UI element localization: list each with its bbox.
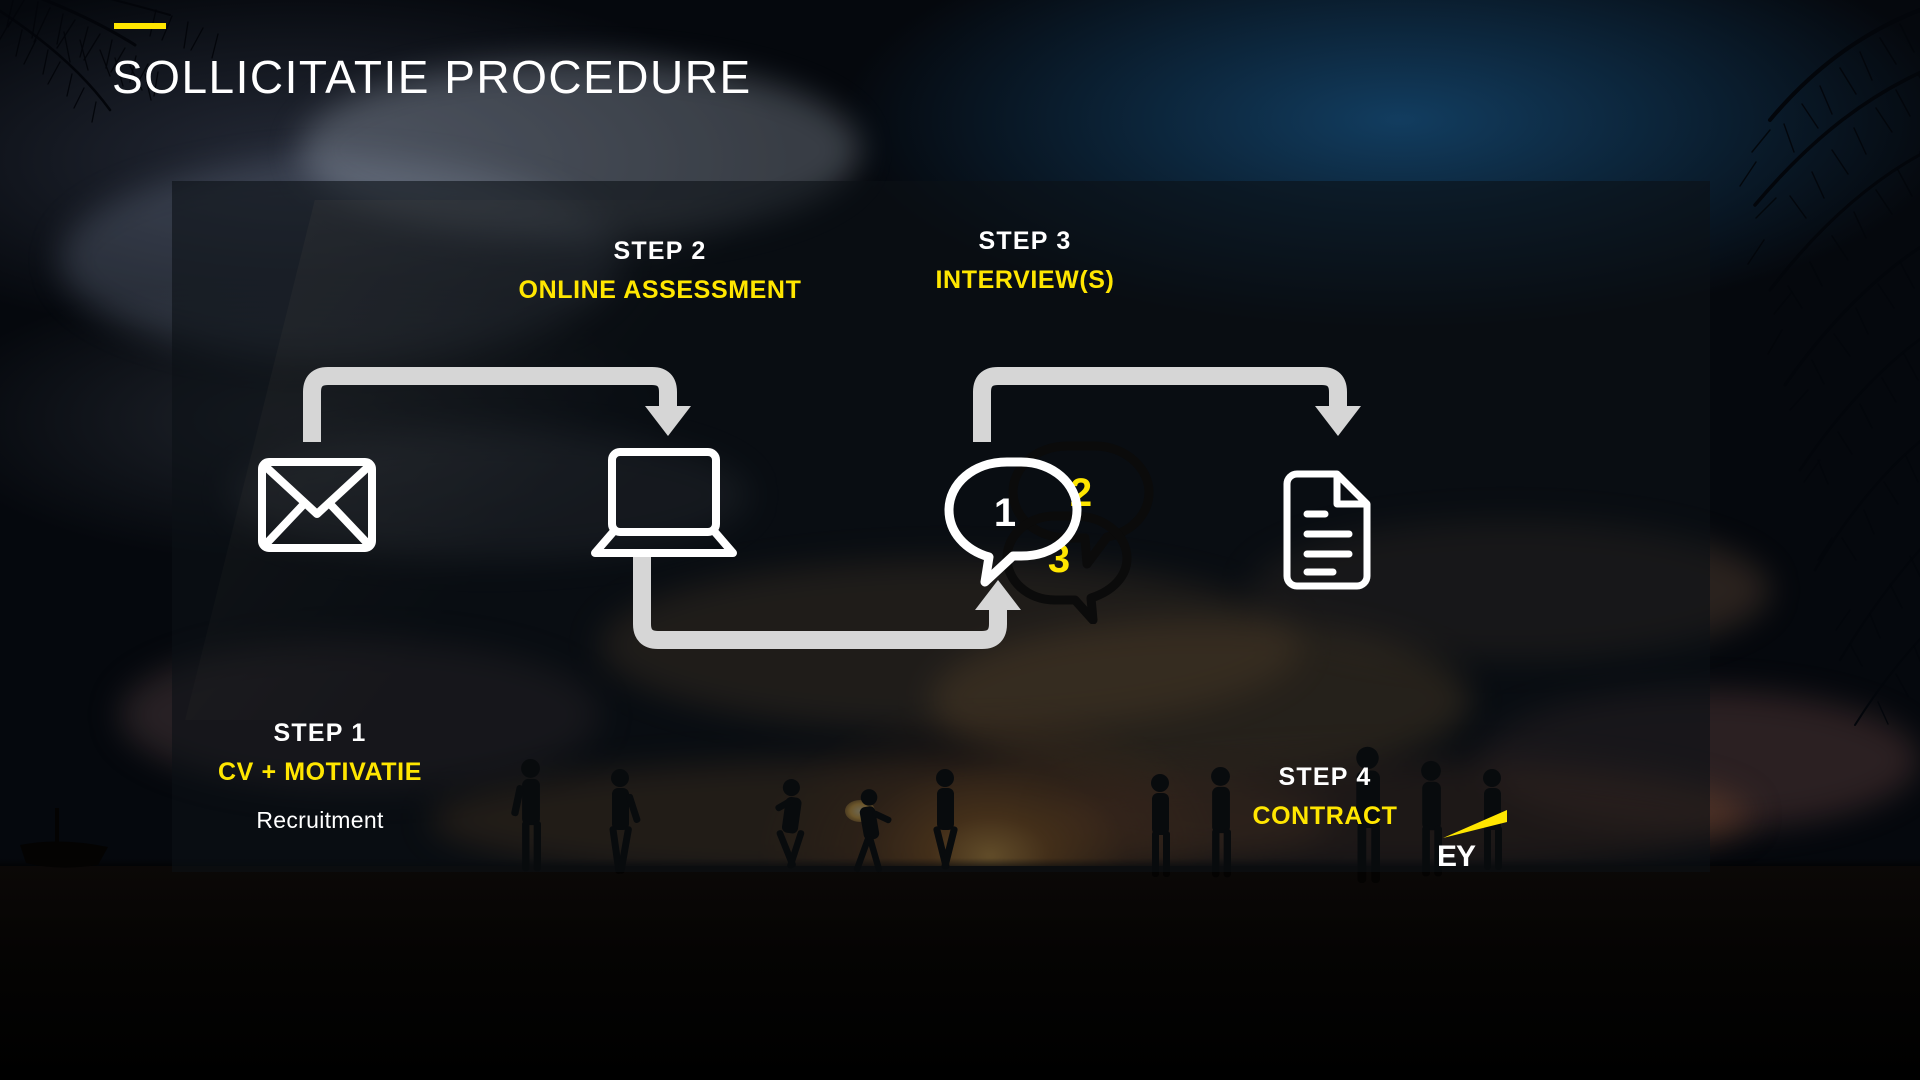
ey-wordmark: EY [1437,842,1475,872]
svg-text:1: 1 [994,491,1016,535]
arrow-step3-to-step4 [970,364,1390,444]
ey-logo: EY [1437,810,1507,872]
speech-bubbles-icon: 2 3 1 [935,434,1175,629]
step-1-title: CV + MOTIVATIE [100,749,540,797]
envelope-icon [258,458,376,557]
step-3-title: INTERVIEW(S) [805,257,1245,305]
step-3-number: STEP 3 [805,226,1245,257]
ey-beam-icon [1441,808,1511,842]
step-1-number: STEP 1 [100,718,540,749]
laptop-icon [590,447,738,564]
slide-canvas: SOLLICITATIE PROCEDURE [0,0,1920,1080]
arrow-step1-to-step2 [300,364,720,444]
step-3-labels: STEP 3 INTERVIEW(S) [805,226,1245,305]
document-icon [1281,470,1373,595]
title-accent-bar [114,23,166,29]
step-1-subtitle: Recruitment [100,797,540,843]
step-1-labels: STEP 1 CV + MOTIVATIE Recruitment [100,718,540,843]
step-4-number: STEP 4 [1105,762,1545,793]
page-title: SOLLICITATIE PROCEDURE [112,50,752,104]
